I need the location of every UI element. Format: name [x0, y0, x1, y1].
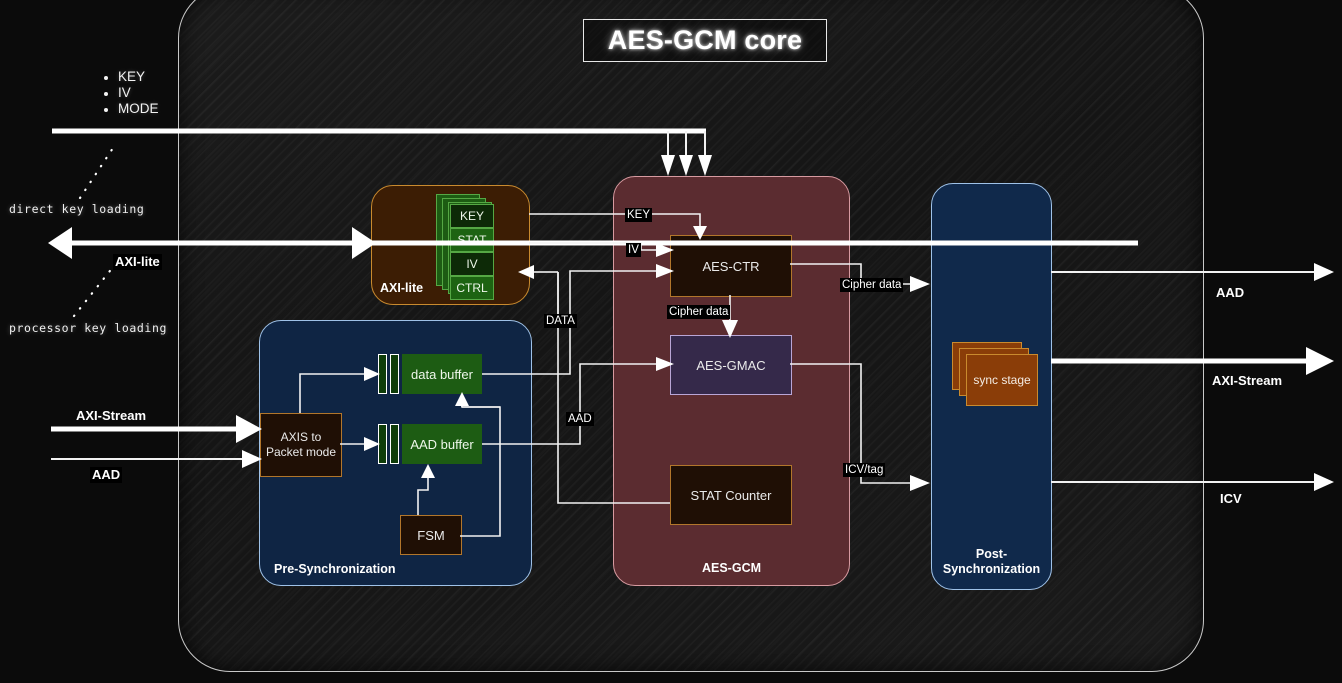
- leader-direct-key-loading: [80, 148, 113, 198]
- block-aes-ctr[interactable]: AES-CTR: [670, 235, 792, 297]
- diagram-canvas: AXI-lite Pre-Synchronization AES-GCM Pos…: [0, 0, 1342, 683]
- block-data-buffer[interactable]: data buffer: [378, 354, 482, 394]
- post-sync-label-line2: Synchronization: [943, 562, 1040, 576]
- axis-to-packet-line1: AXIS to: [281, 430, 322, 444]
- register-stack[interactable]: KEY STAT IV CTRL: [436, 194, 494, 302]
- bullet-iv: IV: [118, 85, 159, 101]
- data-buffer-label: data buffer: [402, 354, 482, 394]
- note-direct-key-loading: direct key loading: [9, 202, 144, 216]
- register-key: KEY: [450, 204, 494, 228]
- block-axis-to-packet-mode-label: AXIS to Packet mode: [266, 430, 336, 460]
- group-post-synchronization-label: Post- Synchronization: [932, 547, 1051, 577]
- page-title: AES-GCM core: [583, 19, 827, 62]
- note-processor-key-loading: processor key loading: [9, 321, 167, 335]
- port-label-axi-stream-out: AXI-Stream: [1212, 373, 1282, 388]
- group-pre-synchronization-label: Pre-Synchronization: [274, 562, 396, 577]
- bullet-mode: MODE: [118, 101, 159, 117]
- group-axi-lite-label: AXI-lite: [380, 281, 423, 296]
- aad-buffer-cell-1: [378, 424, 387, 464]
- input-signal-list: KEY IV MODE: [100, 69, 159, 117]
- register-iv: IV: [450, 252, 494, 276]
- port-label-axi-lite: AXI-lite: [113, 254, 162, 270]
- data-buffer-cell-1: [378, 354, 387, 394]
- signal-label-iv: IV: [626, 243, 641, 257]
- block-fsm-label: FSM: [417, 528, 444, 543]
- block-aes-gmac-label: AES-GMAC: [696, 358, 765, 373]
- post-sync-label-line1: Post-: [976, 547, 1007, 561]
- group-aes-gcm-label: AES-GCM: [614, 561, 849, 576]
- block-fsm[interactable]: FSM: [400, 515, 462, 555]
- page-title-text: AES-GCM core: [608, 25, 802, 56]
- signal-label-cipher-data-out: Cipher data: [840, 278, 903, 292]
- block-stat-counter[interactable]: STAT Counter: [670, 465, 792, 525]
- signal-label-cipher-data-internal: Cipher data: [667, 305, 730, 319]
- axis-to-packet-line2: Packet mode: [266, 445, 336, 459]
- data-buffer-cell-2: [390, 354, 399, 394]
- port-label-icv-out: ICV: [1220, 491, 1242, 506]
- bullet-key: KEY: [118, 69, 159, 85]
- sync-stage-stack[interactable]: sync stage: [952, 342, 1038, 406]
- block-stat-counter-label: STAT Counter: [691, 488, 772, 503]
- register-ctrl: CTRL: [450, 276, 494, 300]
- port-label-axi-stream-in: AXI-Stream: [76, 408, 146, 423]
- port-label-aad-in: AAD: [90, 467, 122, 483]
- signal-label-icv-tag: ICV/tag: [843, 463, 885, 477]
- block-axis-to-packet-mode[interactable]: AXIS to Packet mode: [260, 413, 342, 477]
- aad-buffer-cell-2: [390, 424, 399, 464]
- block-aes-ctr-label: AES-CTR: [702, 259, 759, 274]
- signal-label-data: DATA: [544, 314, 577, 328]
- sync-stage-label: sync stage: [966, 354, 1038, 406]
- block-aad-buffer[interactable]: AAD buffer: [378, 424, 482, 464]
- aad-buffer-label: AAD buffer: [402, 424, 482, 464]
- signal-label-key: KEY: [625, 208, 652, 222]
- signal-label-aad: AAD: [566, 412, 594, 426]
- register-list: KEY STAT IV CTRL: [450, 204, 494, 300]
- register-stat: STAT: [450, 228, 494, 252]
- leader-processor-key-loading: [74, 262, 117, 316]
- port-label-aad-out: AAD: [1216, 285, 1244, 300]
- block-aes-gmac[interactable]: AES-GMAC: [670, 335, 792, 395]
